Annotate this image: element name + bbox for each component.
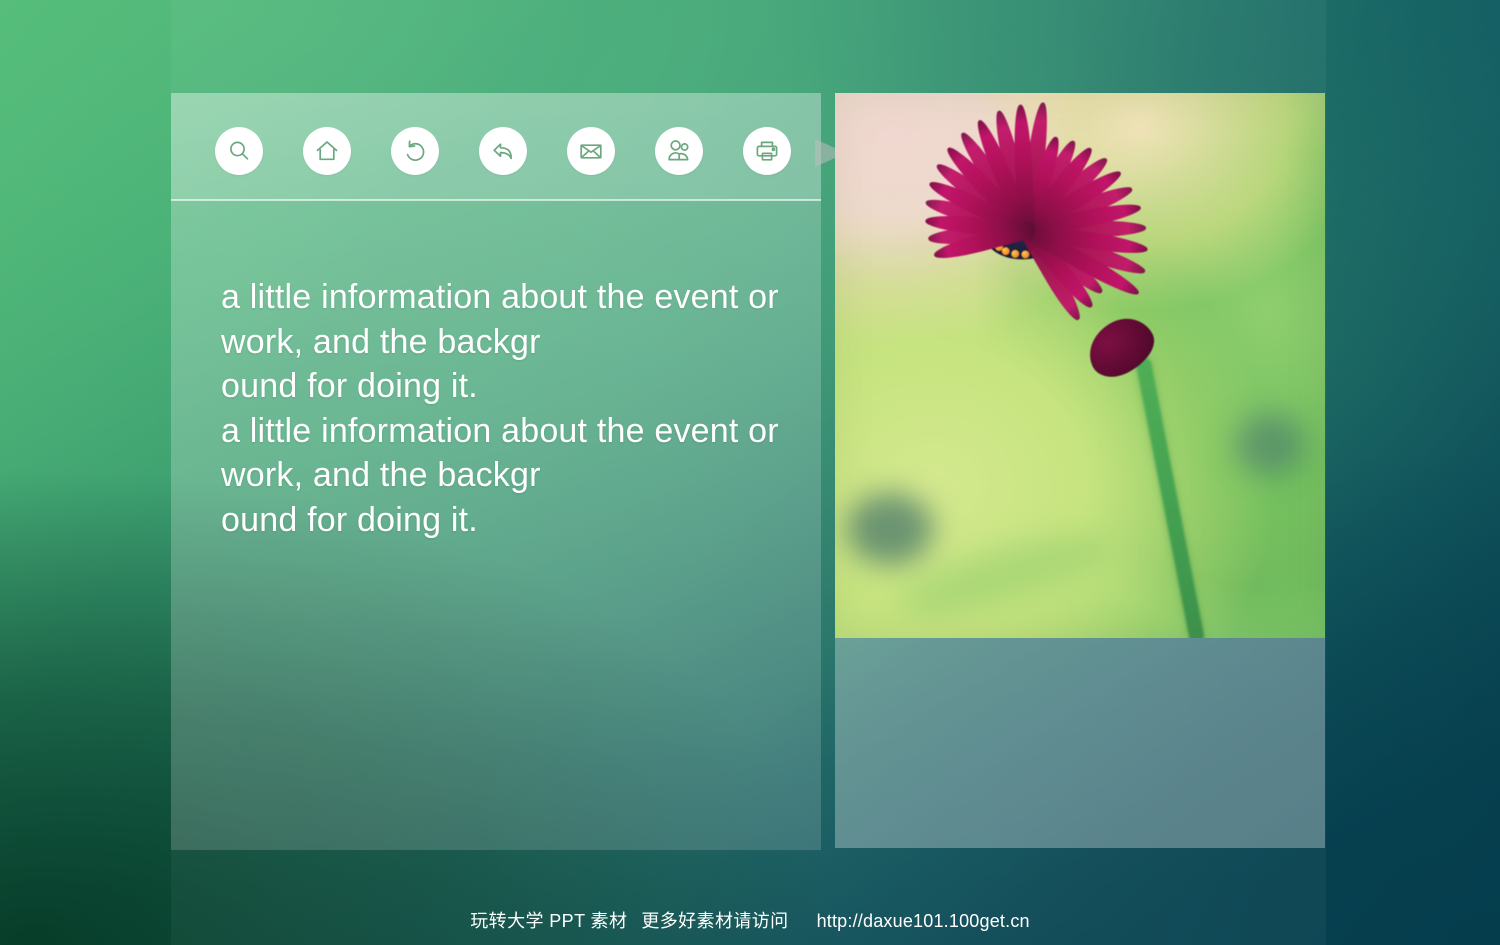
refresh-button[interactable] [391,127,439,175]
mail-icon [577,137,605,165]
mail-button[interactable] [567,127,615,175]
refresh-icon [401,137,429,165]
presentation-slide: a little information about the event or … [0,0,1500,945]
print-icon [753,137,781,165]
toolbar [215,127,791,175]
footer-brand: 玩转大学 PPT 素材 [470,911,627,931]
header-divider [171,199,821,201]
footer-tagline: 更多好素材请访问 [641,911,788,931]
reply-icon [489,137,517,165]
flower-photo [835,93,1325,638]
users-icon [665,137,693,165]
home-button[interactable] [303,127,351,175]
reply-button[interactable] [479,127,527,175]
users-button[interactable] [655,127,703,175]
footer-url[interactable]: http://daxue101.100get.cn [817,911,1030,931]
search-icon [225,137,253,165]
search-button[interactable] [215,127,263,175]
home-icon [313,137,341,165]
print-button[interactable] [743,127,791,175]
photo-bokeh-dark [1235,413,1305,475]
photo-bokeh-dark [847,493,933,565]
flower-head [857,115,1197,345]
flower-pollen-dot [1011,249,1020,258]
caption-panel [835,638,1325,848]
footer: 玩转大学 PPT 素材更多好素材请访问http://daxue101.100ge… [0,907,1500,933]
body-text: a little information about the event or … [221,275,801,542]
